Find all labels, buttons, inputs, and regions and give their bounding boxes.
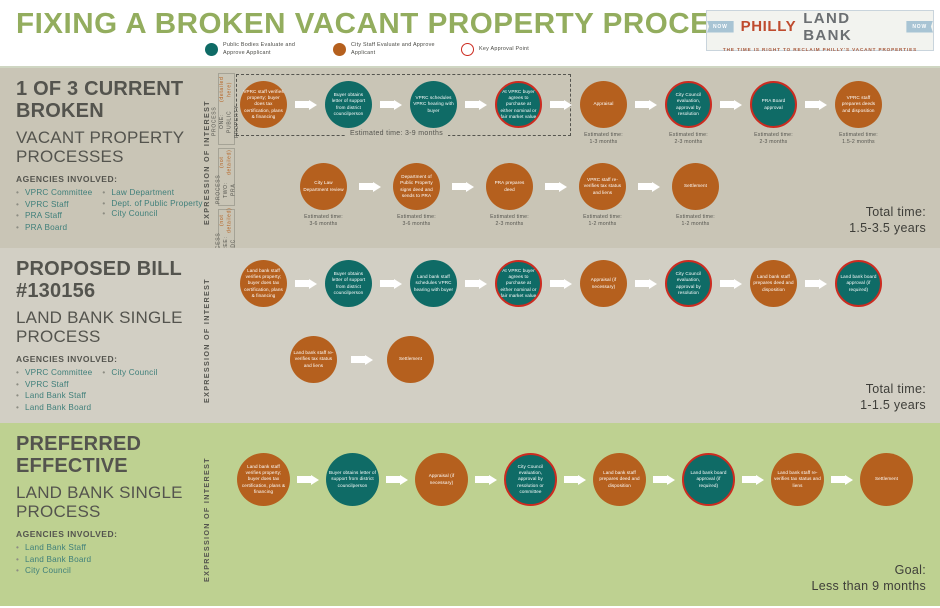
process-node-circle: Department of Public Property signs deed… xyxy=(393,163,440,210)
process-node-circle: City Council evaluation, approval by res… xyxy=(665,260,712,307)
process-node-label: Settlement xyxy=(684,183,707,189)
section1-agency-col2: Law Department Dept. of Public Property … xyxy=(102,187,202,234)
process-node-label: Buyer obtains letter of support from dis… xyxy=(328,92,369,116)
red-ring-icon xyxy=(461,43,474,56)
process-node-label: Buyer obtains letter of support from dis… xyxy=(328,271,369,295)
now-banner-right-icon: NOW xyxy=(906,21,933,33)
process-node[interactable]: City Law Department reviewEstimated time… xyxy=(300,163,347,210)
section2-total-label: Total time: xyxy=(860,381,926,397)
process-node-circle: Buyer obtains letter of support from dis… xyxy=(325,260,372,307)
section2-row1-flow: Land bank staff verifies property; buyer… xyxy=(240,260,882,307)
process-node-label: VPRC staff re-verifies tax status and li… xyxy=(582,177,623,195)
process-node-circle: Land bank staff re-verifies tax status a… xyxy=(290,336,337,383)
list-item: City Council xyxy=(16,565,91,577)
process-node-label: PRA Board approval xyxy=(755,98,792,110)
process-node[interactable]: PRA prepares deedEstimated time:2-3 mont… xyxy=(486,163,533,210)
process-node-label: Land bank staff schedules VPRC hearing w… xyxy=(413,274,454,292)
process-node-circle: Settlement xyxy=(672,163,719,210)
section3-goal-value: Less than 9 months xyxy=(812,578,927,594)
infographic-page: FIXING A BROKEN VACANT PROPERTY PROCESS … xyxy=(0,0,940,608)
flow-arrow-icon xyxy=(297,474,319,485)
section2-agencies: VPRC Committee VPRC Staff Land Bank Staf… xyxy=(16,367,206,414)
section3-heading: PREFERRED EFFECTIVE xyxy=(16,433,206,478)
flow-arrow-icon xyxy=(550,278,572,289)
section2-axis-expression-of-interest: EXPRESSION OF INTEREST xyxy=(202,266,211,416)
section3-goal-label: Goal: xyxy=(812,562,927,578)
process-node-label: Settlement xyxy=(875,476,898,482)
process-node[interactable]: Land bank staff re-verifies tax status a… xyxy=(290,336,337,383)
flow-arrow-icon xyxy=(380,99,402,110)
track-three-note: (not detailed) xyxy=(219,208,234,233)
section2-row2-flow: Land bank staff re-verifies tax status a… xyxy=(290,336,434,383)
process-node-circle: Settlement xyxy=(860,453,913,506)
section1-agencies-label: AGENCIES INVOLVED: xyxy=(16,174,206,184)
section1-agencies: VPRC Committee VPRC Staff PRA Staff PRA … xyxy=(16,187,206,234)
process-node[interactable]: Land bank staff schedules VPRC hearing w… xyxy=(410,260,457,307)
track-one-note: (detailed here) xyxy=(219,77,234,102)
process-node-label: Land bank staff verifies property; buyer… xyxy=(243,268,284,298)
flow-arrow-icon xyxy=(635,278,657,289)
flow-arrow-icon xyxy=(295,278,317,289)
section1-heading: 1 OF 3 CURRENT BROKEN xyxy=(16,78,206,123)
section1-left-panel: 1 OF 3 CURRENT BROKEN VACANT PROPERTY PR… xyxy=(16,78,206,233)
section1-group-estimate: Estimated time: 3-9 months xyxy=(345,130,448,137)
process-node-circle: Appraisal (if necessary) xyxy=(415,453,468,506)
section1-axis-expression-of-interest: EXPRESSION OF INTEREST xyxy=(202,88,211,238)
process-node-label: Settlement xyxy=(399,356,422,362)
process-node-label: City Council evaluation, approval by res… xyxy=(670,92,707,116)
process-node-label: At VPRC buyer agrees to purchase at eith… xyxy=(500,89,537,119)
process-node-estimate: Estimated time:2-3 months xyxy=(754,132,793,147)
list-item: VPRC Committee xyxy=(16,187,92,199)
logo-word-philly: PHILLY xyxy=(741,18,797,35)
process-node[interactable]: City Council evaluation, approval by res… xyxy=(504,453,557,506)
section1-row1-flow: VPRC staff verifies property; buyer does… xyxy=(240,81,882,128)
legend-item-public-bodies: Public Bodies Evaluate and Approve Appli… xyxy=(205,42,311,58)
flow-arrow-icon xyxy=(295,99,317,110)
list-item: PRA Board xyxy=(16,222,92,234)
process-node[interactable]: Buyer obtains letter of support from dis… xyxy=(325,81,372,128)
process-node-circle: At VPRC buyer agrees to purchase at eith… xyxy=(495,260,542,307)
legend-item-key-approval: Key Approval Point xyxy=(461,43,529,56)
process-node-label: Appraisal xyxy=(593,101,613,107)
teal-dot-icon xyxy=(205,43,218,56)
process-node-circle: Buyer obtains letter of support from dis… xyxy=(326,453,379,506)
process-node-circle: At VPRC buyer agrees to purchase at eith… xyxy=(495,81,542,128)
section3-agencies: Land Bank Staff Land Bank Board City Cou… xyxy=(16,542,206,577)
process-node-label: Appraisal (if necessary) xyxy=(583,277,624,289)
process-node-estimate: Estimated time:1-3 months xyxy=(584,132,623,147)
flow-arrow-icon xyxy=(380,278,402,289)
flow-arrow-icon xyxy=(351,354,373,365)
process-node-estimate: Estimated time:2-3 months xyxy=(490,214,529,229)
process-node-label: VPRC staff prepares deeds and dispositio… xyxy=(838,95,879,113)
process-node[interactable]: VPRC staff verifies property; buyer does… xyxy=(240,81,287,128)
list-item: City Council xyxy=(102,367,157,379)
process-node[interactable]: VPRC schedules VPRC hearing with buyer xyxy=(410,81,457,128)
process-node-circle: VPRC schedules VPRC hearing with buyer xyxy=(410,81,457,128)
process-node[interactable]: VPRC staff re-verifies tax status and li… xyxy=(579,163,626,210)
process-node[interactable]: Settlement xyxy=(387,336,434,383)
section1-total-label: Total time: xyxy=(849,204,926,220)
process-node-label: Appraisal (if necessary) xyxy=(418,473,465,485)
process-node[interactable]: Appraisal (if necessary) xyxy=(580,260,627,307)
legend: Public Bodies Evaluate and Approve Appli… xyxy=(205,42,529,58)
logo-row: NOW PHILLY LAND BANK NOW xyxy=(707,10,933,44)
process-node[interactable]: Appraisal (if necessary) xyxy=(415,453,468,506)
section-preferred-effective: PREFERRED EFFECTIVE LAND BANK SINGLE PRO… xyxy=(0,423,940,606)
process-node[interactable]: Land bank board approval (if required) xyxy=(835,260,882,307)
now-banner-left-icon: NOW xyxy=(707,21,734,33)
flow-arrow-icon xyxy=(805,278,827,289)
process-node-estimate: Estimated time:3-6 months xyxy=(304,214,343,229)
flow-arrow-icon xyxy=(635,99,657,110)
process-node[interactable]: Land bank staff verifies property; buyer… xyxy=(237,453,290,506)
process-node-label: City Council evaluation, approval by res… xyxy=(509,464,552,494)
process-node-label: City Law Department review xyxy=(303,180,344,192)
flow-arrow-icon xyxy=(653,474,675,485)
section2-subheading: LAND BANK SINGLE PROCESS xyxy=(16,308,206,347)
process-node[interactable]: Buyer obtains letter of support from dis… xyxy=(326,453,379,506)
list-item: City Council xyxy=(102,208,202,220)
list-item: Law Department xyxy=(102,187,202,199)
flow-arrow-icon xyxy=(465,99,487,110)
process-node-circle: Land bank staff re-verifies tax status a… xyxy=(771,453,824,506)
section1-subheading: VACANT PROPERTY PROCESSES xyxy=(16,128,206,167)
process-node-circle: VPRC staff re-verifies tax status and li… xyxy=(579,163,626,210)
section-proposed-bill: PROPOSED BILL #130156 LAND BANK SINGLE P… xyxy=(0,248,940,423)
process-node[interactable]: Land bank staff verifies property; buyer… xyxy=(240,260,287,307)
logo-tagline: THE TIME IS RIGHT TO RECLAIM PHILLY'S VA… xyxy=(723,47,917,52)
track-two-note: (not detailed) xyxy=(219,150,234,175)
list-item: Land Bank Staff xyxy=(16,542,91,554)
process-node[interactable]: AppraisalEstimated time:1-3 months xyxy=(580,81,627,128)
process-node-estimate: Estimated time:3-6 months xyxy=(397,214,436,229)
list-item: Land Bank Staff xyxy=(16,390,92,402)
section-current-broken: 1 OF 3 CURRENT BROKEN VACANT PROPERTY PR… xyxy=(0,68,940,248)
flow-arrow-icon xyxy=(550,99,572,110)
flow-arrow-icon xyxy=(564,474,586,485)
section3-subheading: LAND BANK SINGLE PROCESS xyxy=(16,483,206,522)
section2-left-panel: PROPOSED BILL #130156 LAND BANK SINGLE P… xyxy=(16,258,206,413)
section3-agencies-label: AGENCIES INVOLVED: xyxy=(16,529,206,539)
section2-agency-col1: VPRC Committee VPRC Staff Land Bank Staf… xyxy=(16,367,92,414)
process-node-label: Land bank board approval (if required) xyxy=(840,274,877,292)
process-node[interactable]: Buyer obtains letter of support from dis… xyxy=(325,260,372,307)
section1-row2-flow: City Law Department reviewEstimated time… xyxy=(300,163,719,210)
process-node-label: Buyer obtains letter of support from dis… xyxy=(329,470,376,488)
section1-agency-col1: VPRC Committee VPRC Staff PRA Staff PRA … xyxy=(16,187,92,234)
process-node-label: VPRC schedules VPRC hearing with buyer xyxy=(413,95,454,113)
list-item: VPRC Staff xyxy=(16,379,92,391)
process-node[interactable]: VPRC staff prepares deeds and dispositio… xyxy=(835,81,882,128)
process-node[interactable]: PRA Board approvalEstimated time:2-3 mon… xyxy=(750,81,797,128)
process-node[interactable]: Land bank staff prepares deed and dispos… xyxy=(593,453,646,506)
process-node-label: Department of Public Property signs deed… xyxy=(396,174,437,198)
process-node[interactable]: Land bank staff re-verifies tax status a… xyxy=(771,453,824,506)
list-item: Dept. of Public Property xyxy=(102,199,202,209)
flow-arrow-icon xyxy=(831,474,853,485)
orange-dot-icon xyxy=(333,43,346,56)
process-node-label: At VPRC buyer agrees to purchase at eith… xyxy=(500,268,537,298)
process-node-estimate: Estimated time:1-2 months xyxy=(676,214,715,229)
process-node-circle: Land bank staff prepares deed and dispos… xyxy=(750,260,797,307)
flow-arrow-icon xyxy=(638,181,660,192)
process-node-label: Land bank staff prepares deed and dispos… xyxy=(753,274,794,292)
process-node-circle: PRA prepares deed xyxy=(486,163,533,210)
section3-left-panel: PREFERRED EFFECTIVE LAND BANK SINGLE PRO… xyxy=(16,433,206,577)
section2-total: Total time: 1-1.5 years xyxy=(860,381,926,414)
process-node-label: PRA prepares deed xyxy=(489,180,530,192)
process-node-circle: Land bank board approval (if required) xyxy=(835,260,882,307)
process-node-estimate: Estimated time:2-3 months xyxy=(669,132,708,147)
flow-arrow-icon xyxy=(475,474,497,485)
process-node-estimate: Estimated time:1-2 months xyxy=(583,214,622,229)
legend-label-public-bodies: Public Bodies Evaluate and Approve Appli… xyxy=(223,42,311,58)
process-node-circle: Buyer obtains letter of support from dis… xyxy=(325,81,372,128)
process-node[interactable]: City Council evaluation, approval by res… xyxy=(665,81,712,128)
flow-arrow-icon xyxy=(386,474,408,485)
process-node[interactable]: At VPRC buyer agrees to purchase at eith… xyxy=(495,81,542,128)
process-node-circle: Land bank staff schedules VPRC hearing w… xyxy=(410,260,457,307)
philly-land-bank-logo: NOW PHILLY LAND BANK NOW THE TIME IS RIG… xyxy=(706,10,934,51)
list-item: Land Bank Board xyxy=(16,554,91,566)
section1-track-process-one: PROCESS ONE: PUBLIC PROPERTY (detailed h… xyxy=(218,73,235,145)
section3-row1-flow: Land bank staff verifies property; buyer… xyxy=(237,453,913,506)
process-node-circle: Land bank board approval (if required) xyxy=(682,453,735,506)
process-node-label: Land bank staff re-verifies tax status a… xyxy=(774,470,821,488)
process-node-circle: City Council evaluation, approval by res… xyxy=(665,81,712,128)
process-node-circle: Appraisal xyxy=(580,81,627,128)
process-node-circle: VPRC staff prepares deeds and dispositio… xyxy=(835,81,882,128)
list-item: VPRC Committee xyxy=(16,367,92,379)
flow-arrow-icon xyxy=(452,181,474,192)
flow-arrow-icon xyxy=(742,474,764,485)
flow-arrow-icon xyxy=(720,99,742,110)
section3-agency-col1: Land Bank Staff Land Bank Board City Cou… xyxy=(16,542,91,577)
flow-arrow-icon xyxy=(720,278,742,289)
process-node-circle: Appraisal (if necessary) xyxy=(580,260,627,307)
flow-arrow-icon xyxy=(805,99,827,110)
list-item: PRA Staff xyxy=(16,210,92,222)
process-node-label: Land bank staff re-verifies tax status a… xyxy=(293,350,334,368)
logo-word-land-bank: LAND BANK xyxy=(803,10,899,44)
process-node[interactable]: Department of Public Property signs deed… xyxy=(393,163,440,210)
legend-item-city-staff: City Staff Evaluate and Approve Applican… xyxy=(333,42,439,58)
process-node-label: Land bank staff prepares deed and dispos… xyxy=(596,470,643,488)
header: FIXING A BROKEN VACANT PROPERTY PROCESS … xyxy=(0,0,940,68)
process-node-estimate: Estimated time:1.5-2 months xyxy=(839,132,878,147)
process-node-circle: VPRC staff verifies property; buyer does… xyxy=(240,81,287,128)
section3-goal: Goal: Less than 9 months xyxy=(812,562,927,595)
process-node-circle: Land bank staff verifies property; buyer… xyxy=(237,453,290,506)
process-node-label: Land bank board approval (if required) xyxy=(687,470,730,488)
section3-axis-expression-of-interest: EXPRESSION OF INTEREST xyxy=(202,445,211,595)
process-node-circle: PRA Board approval xyxy=(750,81,797,128)
legend-label-city-staff: City Staff Evaluate and Approve Applican… xyxy=(351,42,439,58)
page-title: FIXING A BROKEN VACANT PROPERTY PROCESS xyxy=(16,8,751,41)
flow-arrow-icon xyxy=(465,278,487,289)
section2-heading: PROPOSED BILL #130156 xyxy=(16,258,206,303)
section2-agencies-label: AGENCIES INVOLVED: xyxy=(16,354,206,364)
process-node-label: VPRC staff verifies property; buyer does… xyxy=(243,89,284,119)
section2-agency-col2: City Council xyxy=(102,367,157,414)
list-item: Land Bank Board xyxy=(16,402,92,414)
section2-total-value: 1-1.5 years xyxy=(860,397,926,413)
process-node-circle: City Council evaluation, approval by res… xyxy=(504,453,557,506)
legend-label-key-approval: Key Approval Point xyxy=(479,46,529,54)
section1-total: Total time: 1.5-3.5 years xyxy=(849,204,926,237)
process-node-circle: Land bank staff verifies property; buyer… xyxy=(240,260,287,307)
process-node[interactable]: Settlement xyxy=(860,453,913,506)
process-node[interactable]: At VPRC buyer agrees to purchase at eith… xyxy=(495,260,542,307)
list-item: VPRC Staff xyxy=(16,199,92,211)
process-node-label: City Council evaluation, approval by res… xyxy=(670,271,707,295)
process-node[interactable]: Land bank staff prepares deed and dispos… xyxy=(750,260,797,307)
track-two-label: PROCESS TWO: PRA xyxy=(215,175,238,204)
flow-arrow-icon xyxy=(359,181,381,192)
section1-track-process-two: PROCESS TWO: PRA (not detailed) xyxy=(218,148,235,206)
process-node-label: Land bank staff verifies property; buyer… xyxy=(240,464,287,494)
process-node[interactable]: Land bank board approval (if required) xyxy=(682,453,735,506)
process-node[interactable]: City Council evaluation, approval by res… xyxy=(665,260,712,307)
flow-arrow-icon xyxy=(545,181,567,192)
process-node-circle: Settlement xyxy=(387,336,434,383)
section1-total-value: 1.5-3.5 years xyxy=(849,220,926,236)
process-node[interactable]: SettlementEstimated time:1-2 months xyxy=(672,163,719,210)
process-node-circle: Land bank staff prepares deed and dispos… xyxy=(593,453,646,506)
process-node-circle: City Law Department review xyxy=(300,163,347,210)
